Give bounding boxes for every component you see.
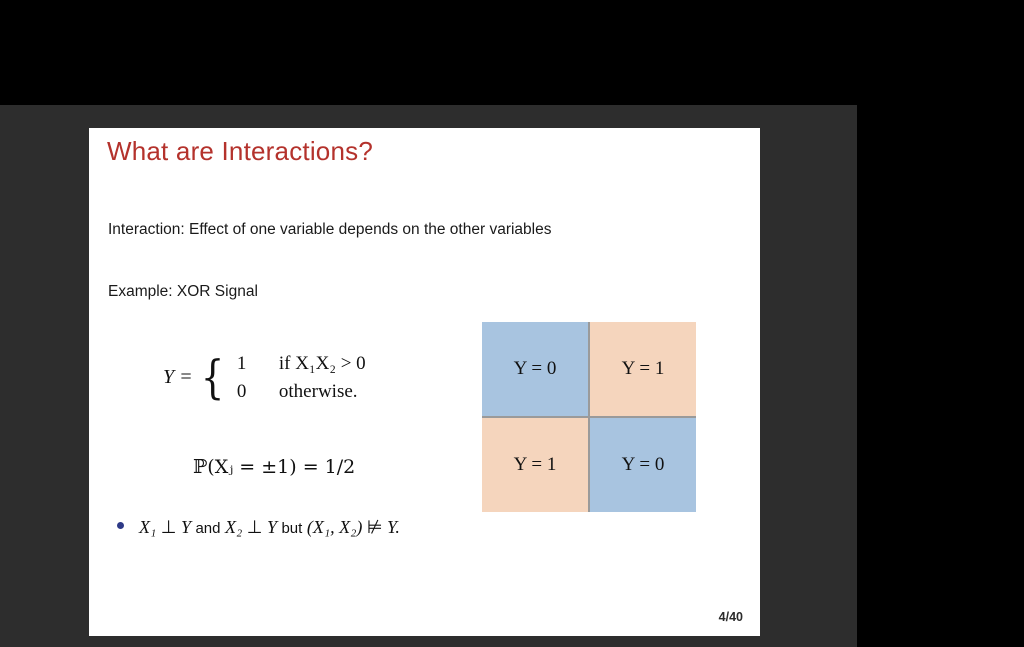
slide-text-interaction-definition: Interaction: Effect of one variable depe… xyxy=(108,221,551,239)
case-row-2: 0 otherwise. xyxy=(237,378,366,406)
bullet-word-but: but xyxy=(281,520,302,537)
bullet-term-x1: X₁ xyxy=(139,517,156,537)
letterbox-bar-right xyxy=(857,105,1024,647)
list-item: X₁ ⊥ Y and X₂ ⊥ Y but (X₁, X₂) ⊭ Y. xyxy=(117,517,400,538)
not-perp-symbol-icon: ⊭ xyxy=(367,517,383,537)
bullet-term-pair: (X₁, X₂) xyxy=(307,517,363,537)
curly-brace-icon: { xyxy=(201,356,224,398)
slide-text-example-heading: Example: XOR Signal xyxy=(108,283,258,301)
cases-branches: 1 if X₁X₂ > 0 0 otherwise. xyxy=(237,350,366,405)
case-row-1: 1 if X₁X₂ > 0 xyxy=(237,350,366,378)
perp-symbol-icon-2: ⊥ xyxy=(247,517,263,537)
cases-left-hand-side: Y = xyxy=(163,366,193,389)
bullet-term-y2: Y xyxy=(267,517,277,537)
slide-page-number: 4/40 xyxy=(719,610,743,624)
presentation-slide: What are Interactions? Interaction: Effe… xyxy=(89,128,760,636)
math-formula-block: Y = { 1 if X₁X₂ > 0 0 otherwise. ℙ(Xⱼ = … xyxy=(163,350,366,405)
xor-cell-bottom-right: Y = 0 xyxy=(590,418,696,512)
cases-equation: Y = { 1 if X₁X₂ > 0 0 otherwise. xyxy=(163,350,366,405)
case-1-value: 1 xyxy=(237,350,279,378)
bullet-word-and: and xyxy=(195,520,220,537)
case-2-condition: otherwise. xyxy=(279,378,358,406)
bullet-dot-icon xyxy=(117,522,124,529)
page-title: What are Interactions? xyxy=(107,136,373,167)
perp-symbol-icon: ⊥ xyxy=(161,517,177,537)
xor-cell-top-right: Y = 1 xyxy=(590,322,696,416)
xor-cell-top-left: Y = 0 xyxy=(482,322,588,416)
case-1-condition: if X₁X₂ > 0 xyxy=(279,350,366,378)
case-2-value: 0 xyxy=(237,378,279,406)
probability-equation: ℙ(Xⱼ = ±1) = 1/2 xyxy=(193,456,355,478)
xor-quadrant-grid: Y = 0 Y = 1 Y = 1 Y = 0 xyxy=(482,322,696,512)
bullet-term-y3: Y. xyxy=(387,517,400,537)
letterbox-bar-top xyxy=(0,0,1024,105)
bullet-term-x2: X₂ xyxy=(225,517,242,537)
xor-cell-bottom-left: Y = 1 xyxy=(482,418,588,512)
bullet-term-y1: Y xyxy=(181,517,191,537)
screen-share-area: What are Interactions? Interaction: Effe… xyxy=(0,105,857,647)
bullet-item-text: X₁ ⊥ Y and X₂ ⊥ Y but (X₁, X₂) ⊭ Y. xyxy=(139,517,400,538)
